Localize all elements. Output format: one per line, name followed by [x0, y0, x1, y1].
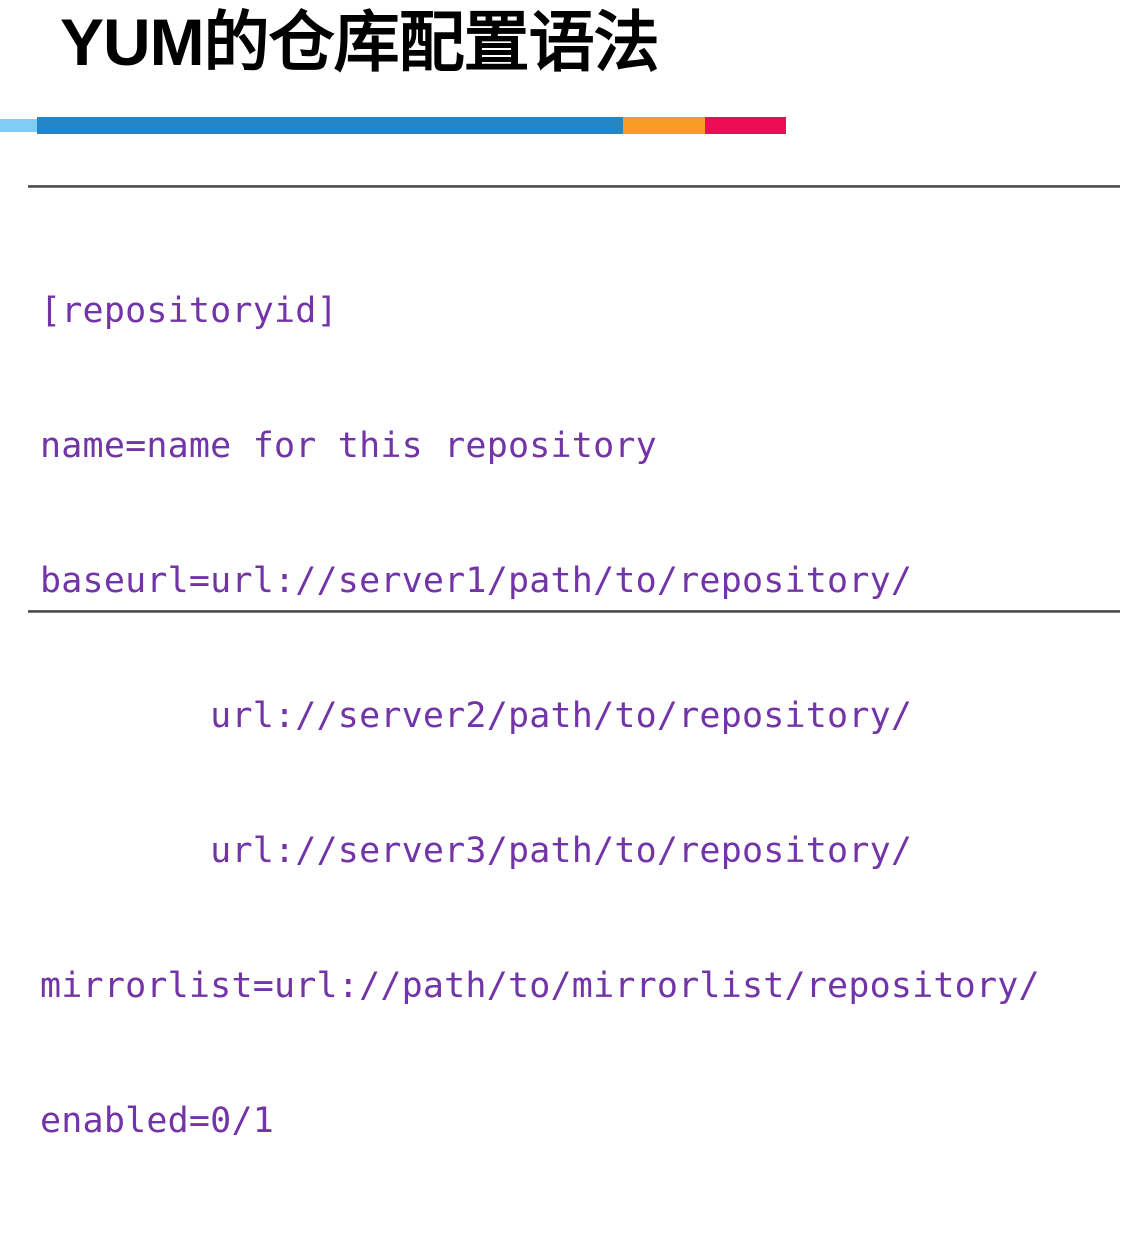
- code-line: url://server3/path/to/repository/: [40, 829, 1040, 874]
- code-block: [repositoryid] name=name for this reposi…: [40, 199, 1040, 1238]
- code-line: baseurl=url://server1/path/to/repository…: [40, 559, 1040, 604]
- divider-top: [28, 185, 1120, 188]
- page-title: YUM的仓库配置语法: [60, 2, 659, 82]
- code-line: url://server2/path/to/repository/: [40, 694, 1040, 739]
- accent-segment-light-blue: [0, 119, 37, 132]
- accent-segment-pink: [705, 117, 786, 134]
- code-line: name=name for this repository: [40, 424, 1040, 469]
- divider-bottom: [28, 610, 1120, 613]
- accent-segment-blue: [37, 117, 623, 134]
- code-line: [repositoryid]: [40, 289, 1040, 334]
- code-line: enabled=0/1: [40, 1099, 1040, 1144]
- code-line: gpgcheck=0/1: [40, 1234, 1040, 1238]
- accent-bar: [0, 117, 786, 134]
- code-line: mirrorlist=url://path/to/mirrorlist/repo…: [40, 964, 1040, 1009]
- slide-root: YUM的仓库配置语法 [repositoryid] name=name for …: [0, 0, 1132, 619]
- accent-segment-orange: [623, 117, 705, 134]
